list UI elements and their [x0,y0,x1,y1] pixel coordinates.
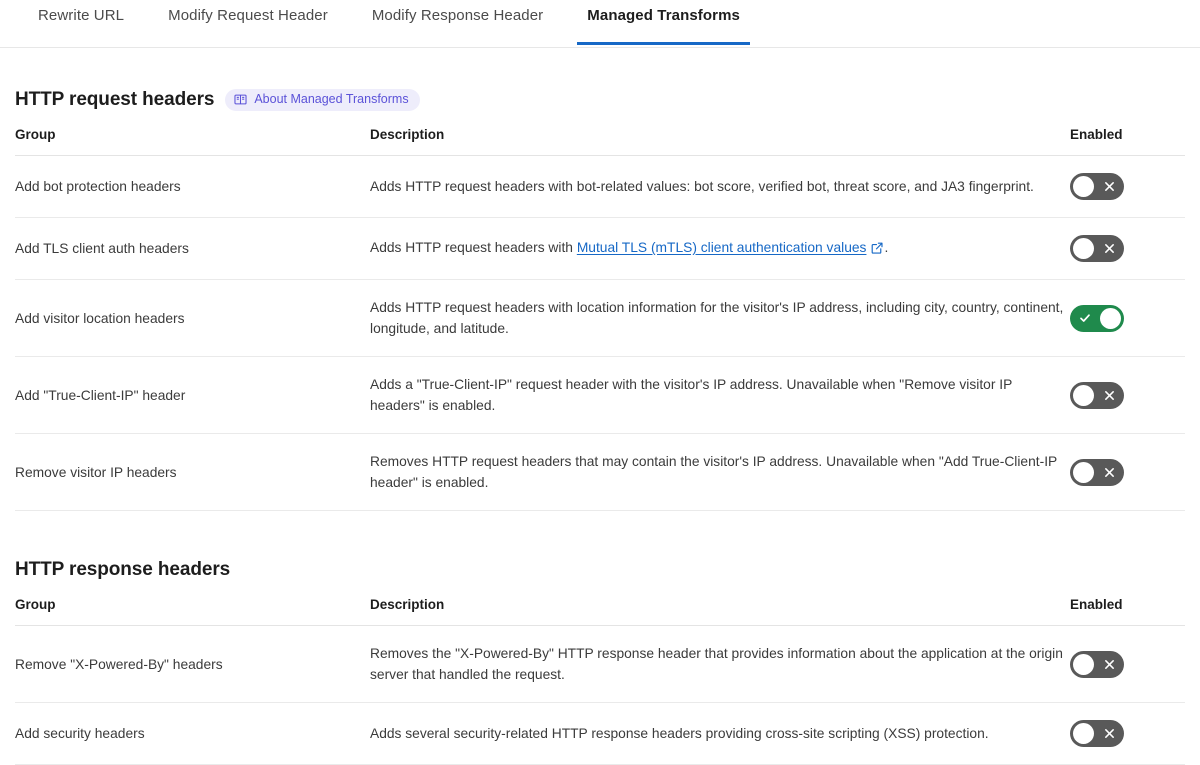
toggle-add-tls-client-auth-headers[interactable] [1070,235,1124,262]
row-enabled-cell [1070,280,1185,357]
description-prefix: Adds HTTP request headers with [370,240,577,255]
section-header: HTTP response headers [15,558,1185,582]
about-pill-label: About Managed Transforms [254,92,408,107]
row-description: Adds a "True-Client-IP" request header w… [370,357,1070,434]
row-description: Removes the "X-Powered-By" HTTP response… [370,626,1070,703]
check-icon [1079,305,1091,332]
row-group-name: Remove visitor IP headers [15,434,370,511]
table-row: Add bot protection headers Adds HTTP req… [15,156,1185,218]
toggle-remove-x-powered-by-headers[interactable] [1070,651,1124,678]
row-group-name: Add "True-Client-IP" header [15,357,370,434]
table-row: Remove "X-Powered-By" headers Removes th… [15,626,1185,703]
row-description: Removes HTTP request headers that may co… [370,434,1070,511]
row-enabled-cell [1070,626,1185,703]
toggle-knob [1073,462,1094,483]
tab-modify-response-header[interactable]: Modify Response Header [350,0,565,45]
toggle-knob [1100,308,1121,329]
row-group-name: Add visitor location headers [15,280,370,357]
row-enabled-cell [1070,218,1185,280]
row-description: Adds HTTP request headers with location … [370,280,1070,357]
row-enabled-cell [1070,357,1185,434]
row-description: Adds several security-related HTTP respo… [370,703,1070,765]
row-enabled-cell [1070,703,1185,765]
section-header: HTTP request headers About Managed Trans… [15,88,1185,112]
toggle-add-security-headers[interactable] [1070,720,1124,747]
column-header-enabled: Enabled [1070,126,1185,156]
description-suffix: . [884,240,888,255]
row-group-name: Remove "X-Powered-By" headers [15,626,370,703]
column-header-description: Description [370,126,1070,156]
toggle-knob [1073,176,1094,197]
row-group-name: Add TLS client auth headers [15,218,370,280]
table-header-row: Group Description Enabled [15,596,1185,626]
close-icon [1104,382,1115,409]
row-group-name: Add bot protection headers [15,156,370,218]
section-title-response-headers: HTTP response headers [15,558,230,582]
book-icon [234,93,247,106]
close-icon [1104,235,1115,262]
table-row: Remove visitor IP headers Removes HTTP r… [15,434,1185,511]
toggle-knob [1073,385,1094,406]
tab-managed-transforms[interactable]: Managed Transforms [565,0,762,45]
column-header-group: Group [15,596,370,626]
column-header-description: Description [370,596,1070,626]
close-icon [1104,651,1115,678]
row-description: Adds HTTP request headers with Mutual TL… [370,218,1070,280]
toggle-knob [1073,654,1094,675]
request-headers-table: Group Description Enabled Add bot protec… [15,126,1185,511]
table-row: Add security headers Adds several securi… [15,703,1185,765]
column-header-enabled: Enabled [1070,596,1185,626]
tab-bar: Rewrite URL Modify Request Header Modify… [0,0,1200,48]
close-icon [1104,173,1115,200]
section-http-request-headers: HTTP request headers About Managed Trans… [0,88,1200,511]
close-icon [1104,720,1115,747]
table-row: Add TLS client auth headers Adds HTTP re… [15,218,1185,280]
column-header-group: Group [15,126,370,156]
response-headers-table: Group Description Enabled Remove "X-Powe… [15,596,1185,765]
page-title: HTTP request headers [15,88,214,112]
external-link-icon[interactable] [871,239,883,260]
row-enabled-cell [1070,434,1185,511]
close-icon [1104,459,1115,486]
about-managed-transforms-link[interactable]: About Managed Transforms [225,89,419,111]
tab-rewrite-url[interactable]: Rewrite URL [16,0,146,45]
tab-modify-request-header[interactable]: Modify Request Header [146,0,350,45]
toggle-knob [1073,238,1094,259]
toggle-add-visitor-location-headers[interactable] [1070,305,1124,332]
toggle-add-true-client-ip-header[interactable] [1070,382,1124,409]
toggle-remove-visitor-ip-headers[interactable] [1070,459,1124,486]
table-header-row: Group Description Enabled [15,126,1185,156]
section-http-response-headers: HTTP response headers Group Description … [0,558,1200,765]
toggle-add-bot-protection-headers[interactable] [1070,173,1124,200]
table-row: Add "True-Client-IP" header Adds a "True… [15,357,1185,434]
toggle-knob [1073,723,1094,744]
row-description: Adds HTTP request headers with bot-relat… [370,156,1070,218]
table-row: Add visitor location headers Adds HTTP r… [15,280,1185,357]
row-group-name: Add security headers [15,703,370,765]
row-enabled-cell [1070,156,1185,218]
mtls-documentation-link[interactable]: Mutual TLS (mTLS) client authentication … [577,240,867,255]
